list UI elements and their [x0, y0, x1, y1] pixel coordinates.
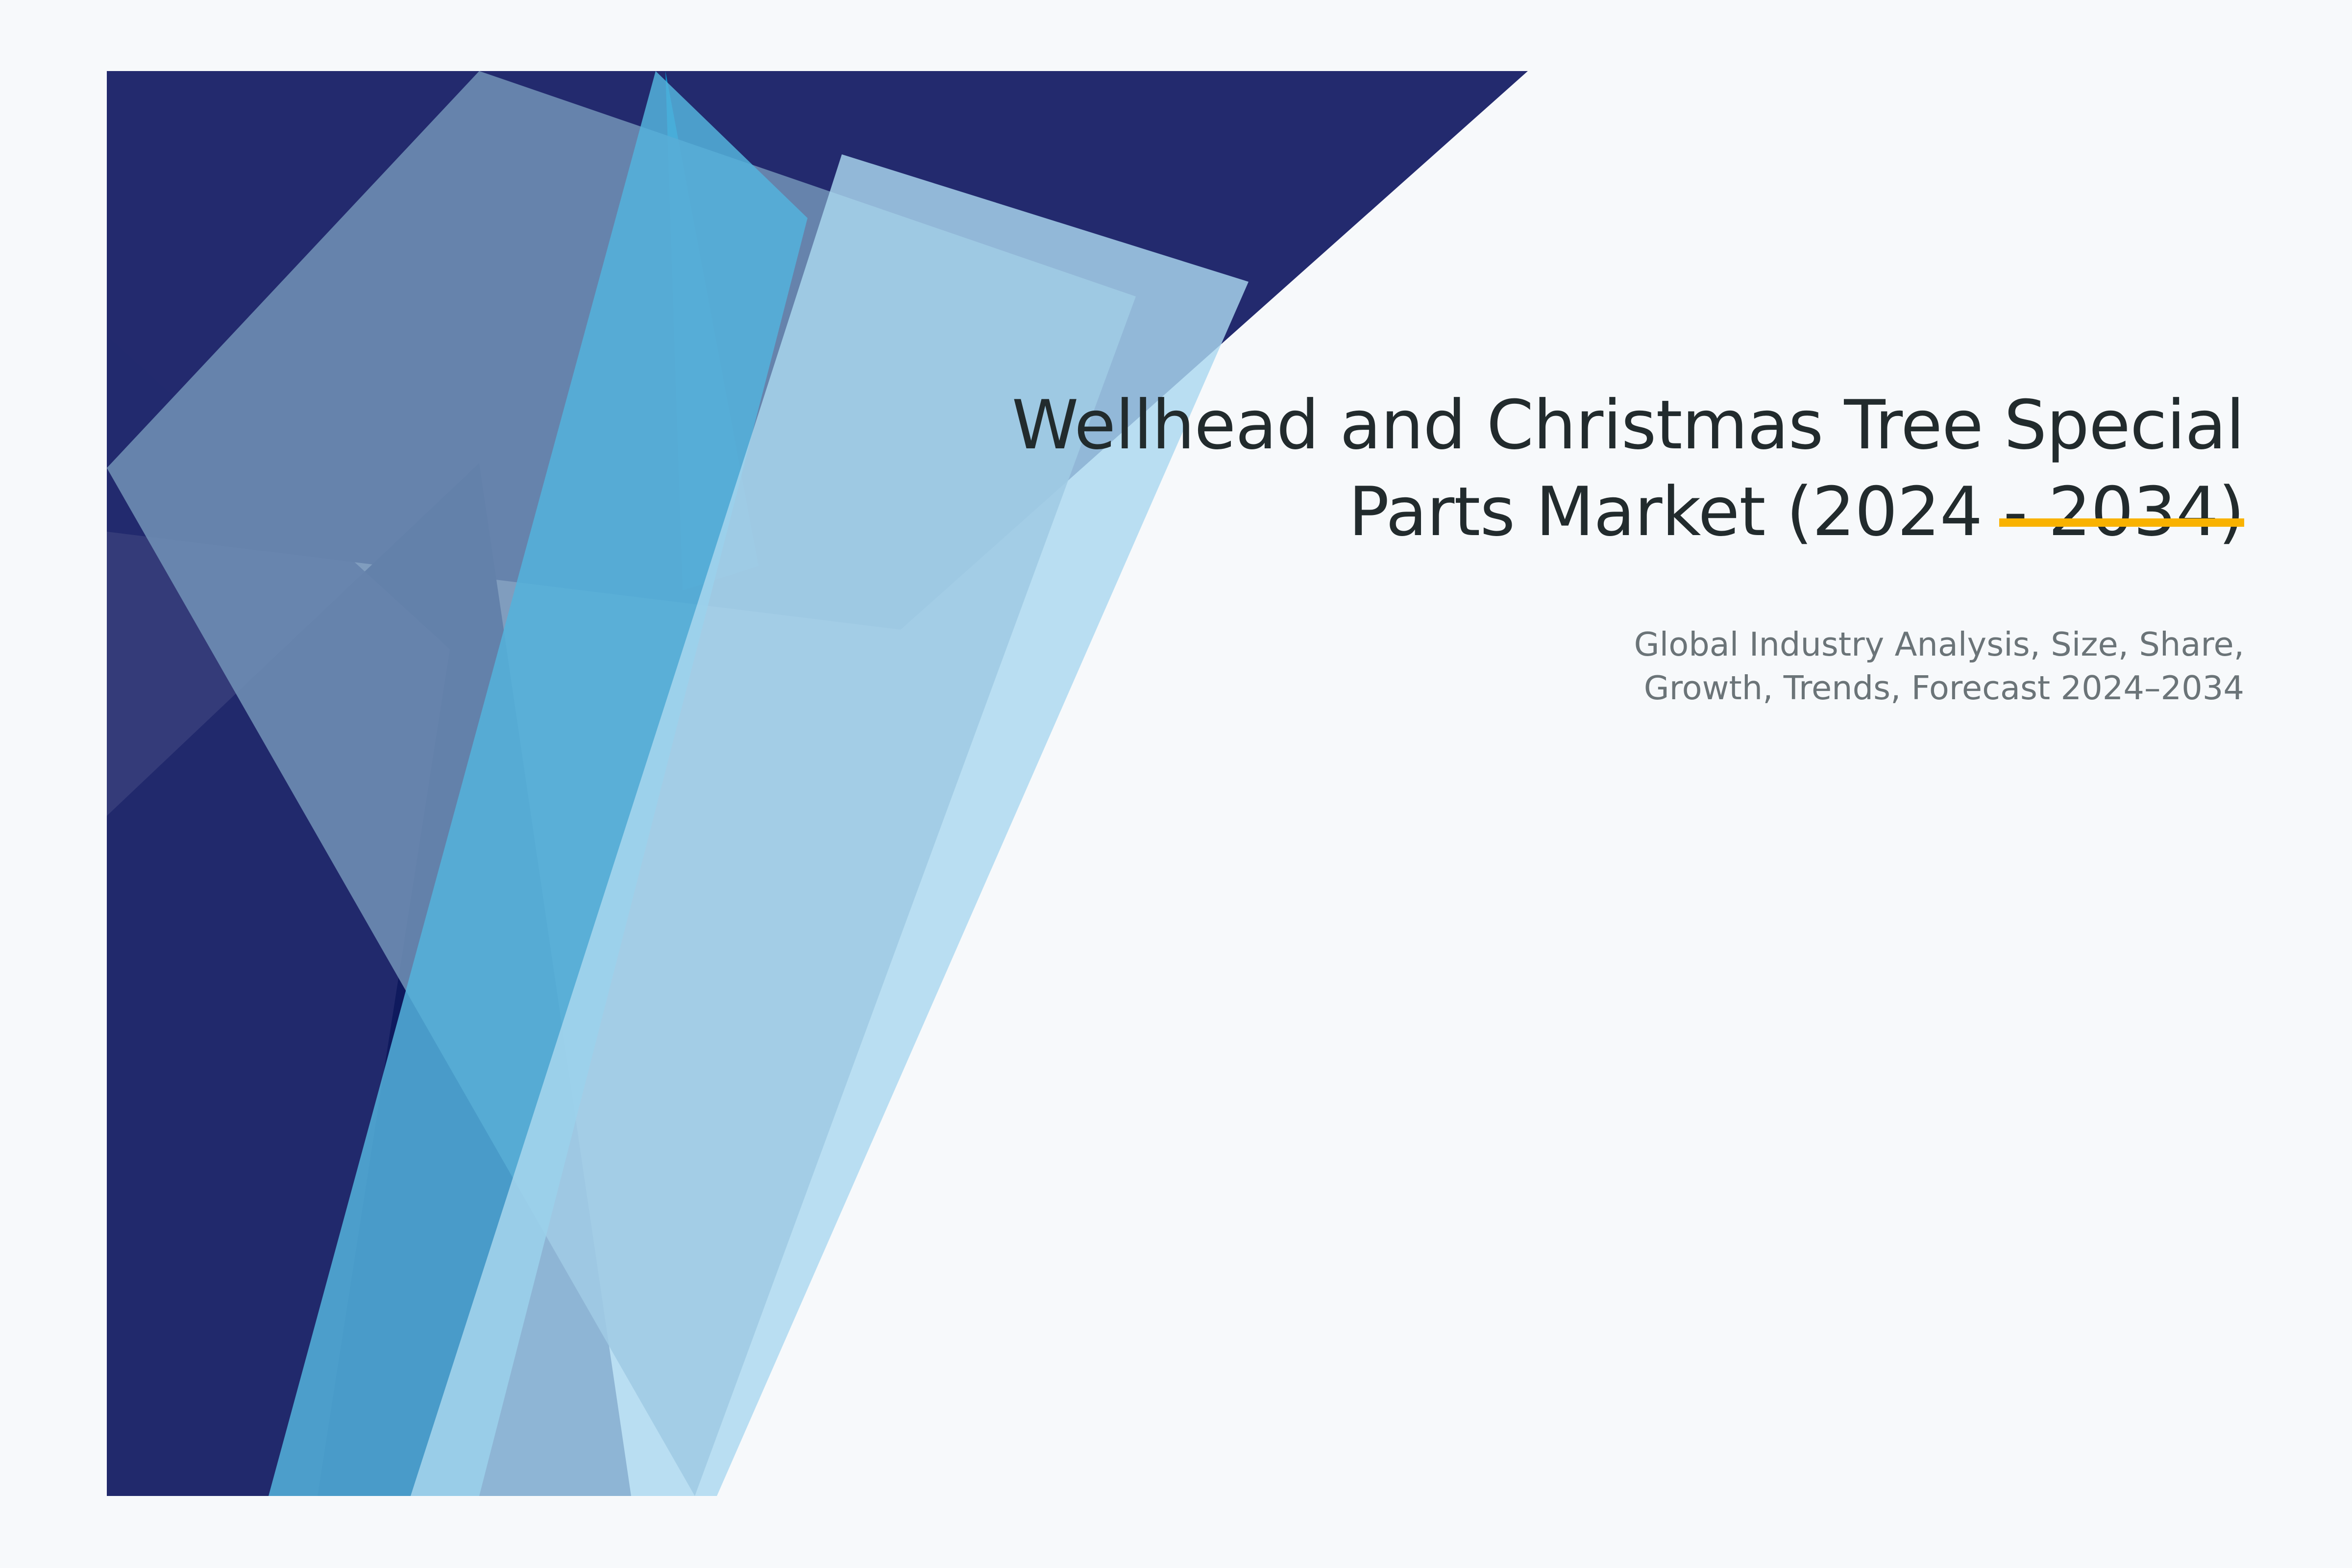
page-subtitle: Global Industry Analysis, Size, Share, G… [833, 555, 2244, 710]
cover-text-block: Wellhead and Christmas Tree Special Part… [833, 382, 2244, 710]
title-wrap: Wellhead and Christmas Tree Special Part… [833, 382, 2244, 555]
page-title: Wellhead and Christmas Tree Special Part… [833, 382, 2244, 555]
abstract-geometric-cover-graphic [107, 71, 1528, 1496]
title-accent-underline [1999, 518, 2244, 527]
cover-page: Wellhead and Christmas Tree Special Part… [0, 0, 2352, 1568]
